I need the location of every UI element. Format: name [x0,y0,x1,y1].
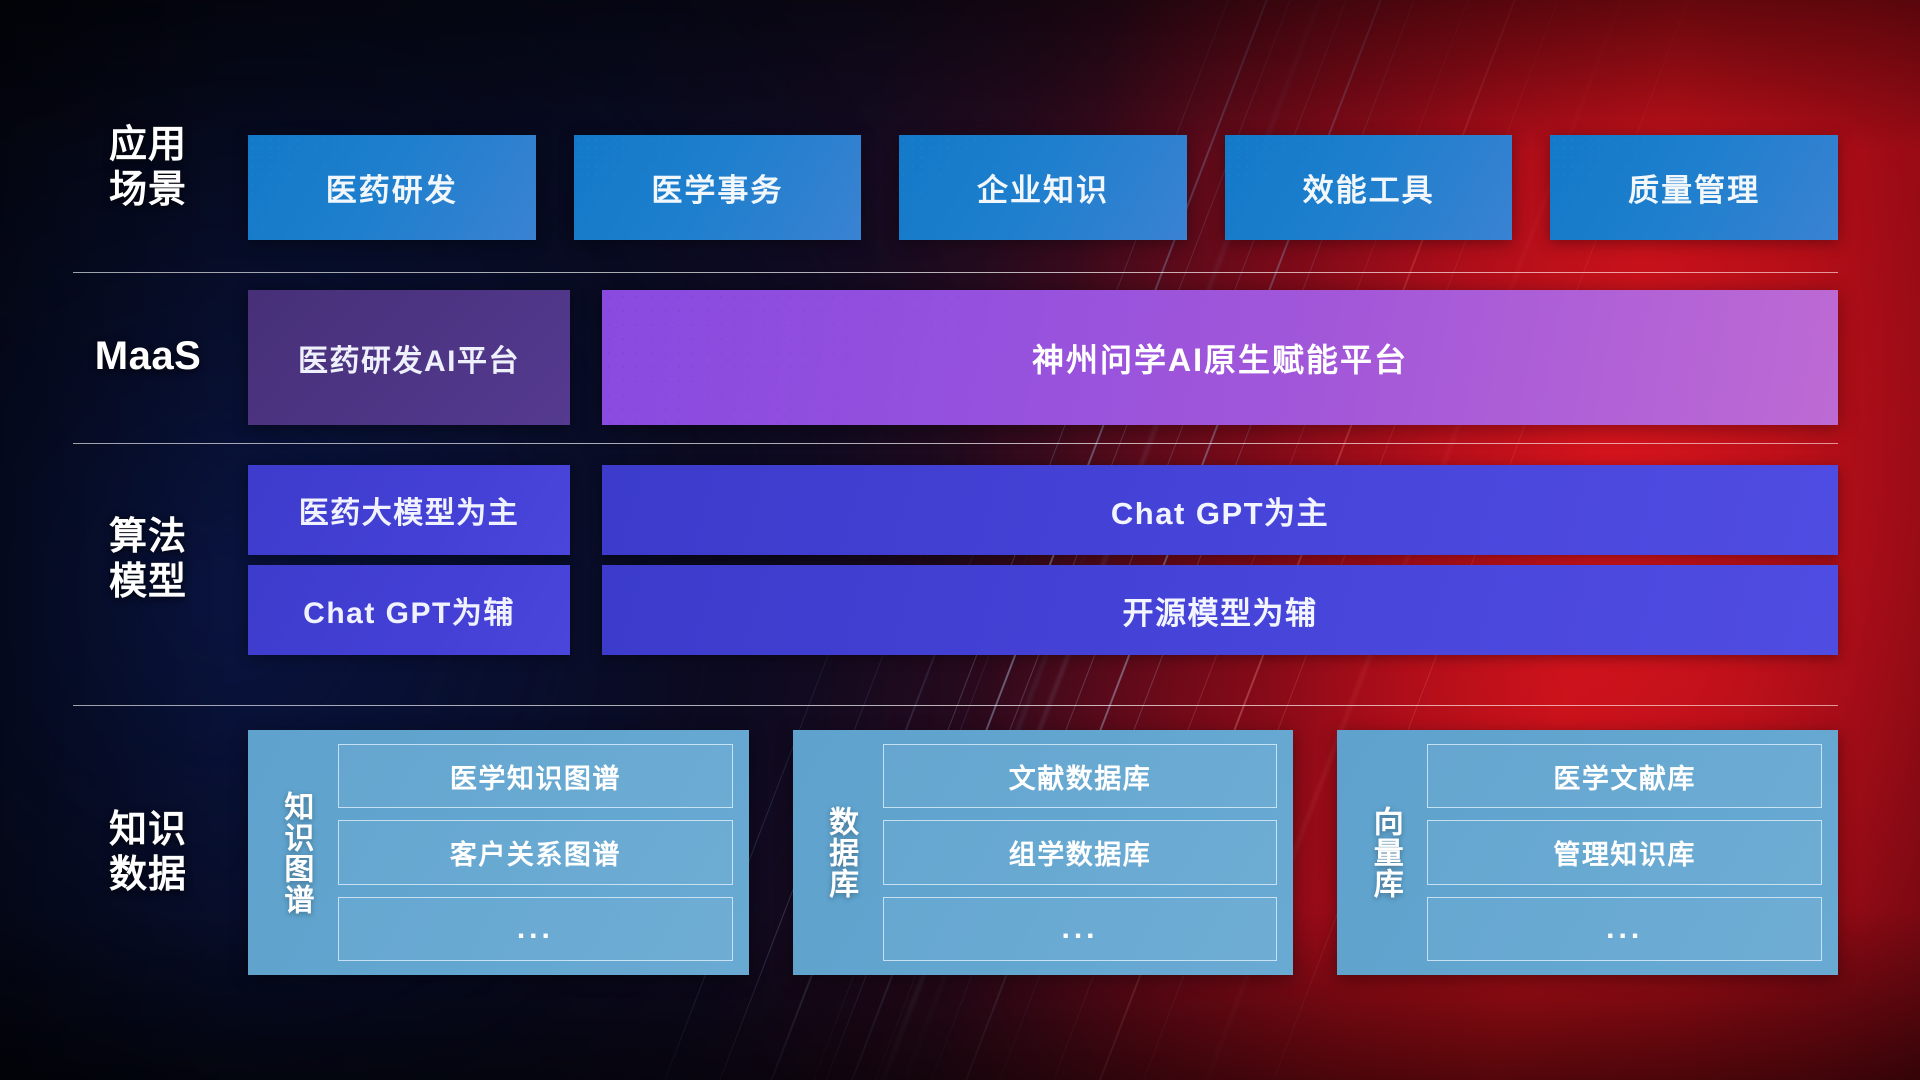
app-box-medical-affairs[interactable]: 医学事务 [574,135,862,240]
knowledge-item-more-knowledge-graph[interactable]: ... [338,897,733,961]
maas-box-pharma-ai-platform[interactable]: 医药研发AI平台 [248,290,570,425]
maas-row: 医药研发AI平台 神州问学AI原生赋能平台 [248,290,1838,425]
application-row: 医药研发 医学事务 企业知识 效能工具 质量管理 [248,135,1838,240]
knowledge-card-label-vector-store: 向量库 [1347,744,1421,961]
knowledge-item-management-knowledge-store[interactable]: 管理知识库 [1427,820,1822,884]
knowledge-item-more-vector-store[interactable]: ... [1427,897,1822,961]
knowledge-card-label-database: 数据库 [803,744,877,961]
app-box-medicine-rd[interactable]: 医药研发 [248,135,536,240]
knowledge-items-database: 文献数据库 组学数据库 ... [877,744,1278,961]
algo-box-pharma-large-model-primary[interactable]: 医药大模型为主 [248,465,570,555]
knowledge-item-omics-database[interactable]: 组学数据库 [883,820,1278,884]
algo-box-chatgpt-primary[interactable]: Chat GPT为主 [602,465,1838,555]
algorithm-row: 医药大模型为主 Chat GPT为主 Chat GPT为辅 开源模型为辅 [248,465,1838,655]
algo-box-opensource-secondary[interactable]: 开源模型为辅 [602,565,1838,655]
knowledge-items-knowledge-graph: 医学知识图谱 客户关系图谱 ... [332,744,733,961]
app-box-quality-management[interactable]: 质量管理 [1550,135,1838,240]
knowledge-card-label-knowledge-graph: 知识图谱 [258,744,332,961]
divider-maas-algorithm [73,443,1838,444]
app-box-enterprise-knowledge[interactable]: 企业知识 [899,135,1187,240]
app-box-efficiency-tools[interactable]: 效能工具 [1225,135,1513,240]
knowledge-item-customer-relation-graph[interactable]: 客户关系图谱 [338,820,733,884]
knowledge-item-medical-literature-store[interactable]: 医学文献库 [1427,744,1822,808]
knowledge-card-vector-store[interactable]: 向量库 医学文献库 管理知识库 ... [1337,730,1838,975]
algorithm-line-primary: 医药大模型为主 Chat GPT为主 [248,465,1838,555]
divider-algorithm-knowledge [73,705,1838,706]
algo-box-chatgpt-secondary[interactable]: Chat GPT为辅 [248,565,570,655]
maas-box-shenzhou-wenxue-platform[interactable]: 神州问学AI原生赋能平台 [602,290,1838,425]
knowledge-item-literature-database[interactable]: 文献数据库 [883,744,1278,808]
knowledge-items-vector-store: 医学文献库 管理知识库 ... [1421,744,1822,961]
row-label-maas: MaaS [68,333,228,380]
row-label-algorithm: 算法 模型 [68,515,228,605]
architecture-diagram: 应用 场景 医药研发 医学事务 企业知识 效能工具 质量管理 MaaS 医药研发… [0,0,1920,1080]
knowledge-card-knowledge-graph[interactable]: 知识图谱 医学知识图谱 客户关系图谱 ... [248,730,749,975]
row-label-application: 应用 场景 [68,123,228,213]
knowledge-item-more-database[interactable]: ... [883,897,1278,961]
row-label-knowledge: 知识 数据 [68,808,228,898]
divider-application-maas [73,272,1838,273]
knowledge-row: 知识图谱 医学知识图谱 客户关系图谱 ... 数据库 文献数据库 组学数据库 .… [248,730,1838,975]
algorithm-line-secondary: Chat GPT为辅 开源模型为辅 [248,565,1838,655]
knowledge-item-medical-knowledge-graph[interactable]: 医学知识图谱 [338,744,733,808]
knowledge-card-database[interactable]: 数据库 文献数据库 组学数据库 ... [793,730,1294,975]
